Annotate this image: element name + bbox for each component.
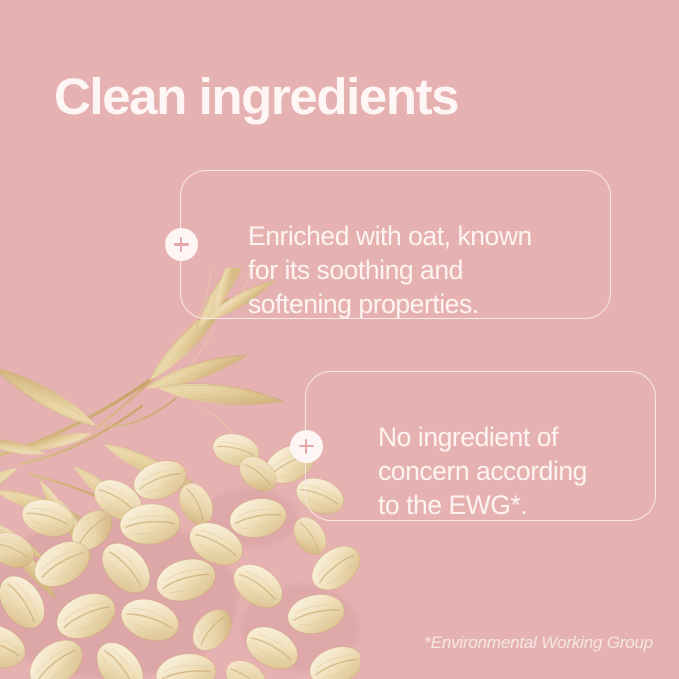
callout-text-ewg: No ingredient of concern according to th… bbox=[378, 420, 587, 522]
promo-card: Clean ingredients Enriched with oat, kno… bbox=[0, 0, 679, 679]
plus-icon bbox=[165, 228, 198, 261]
callout-card-ewg: No ingredient of concern according to th… bbox=[305, 371, 656, 521]
plus-icon-vertical-bar bbox=[305, 439, 307, 454]
callout-text-oat: Enriched with oat, known for its soothin… bbox=[248, 219, 532, 321]
footnote: *Environmental Working Group bbox=[424, 633, 653, 653]
plus-icon bbox=[290, 430, 323, 463]
page-title: Clean ingredients bbox=[54, 68, 458, 125]
plus-icon-vertical-bar bbox=[180, 237, 182, 252]
callout-card-oat: Enriched with oat, known for its soothin… bbox=[180, 170, 611, 319]
